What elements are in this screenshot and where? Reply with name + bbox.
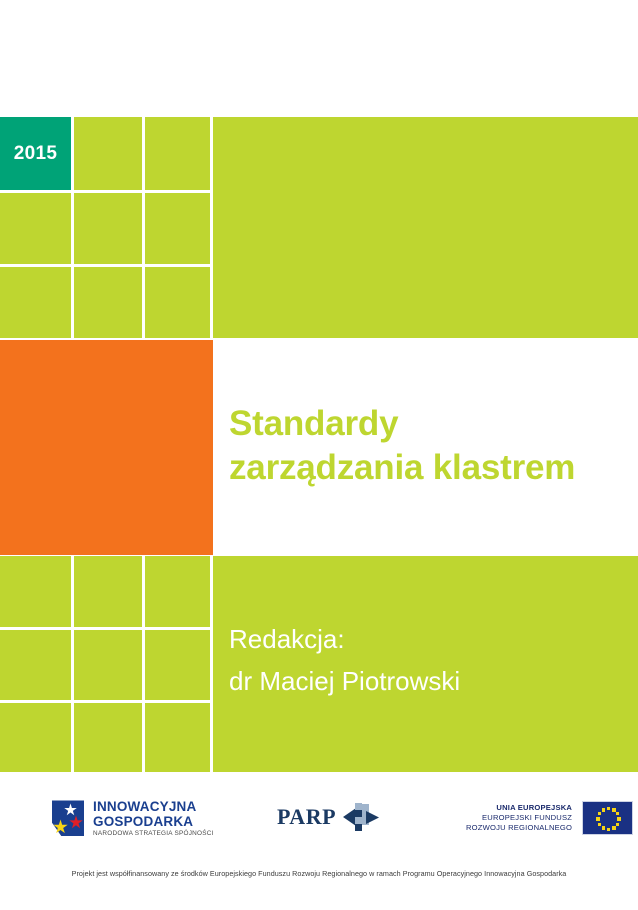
logo-strip: INNOWACYJNA GOSPODARKA NARODOWA STRATEGI…	[0, 772, 638, 862]
grid-divider-horizontal	[0, 700, 213, 703]
square-tile	[355, 803, 362, 810]
top-grid-tiles: 2015	[0, 117, 213, 338]
eu-star-icon	[616, 812, 619, 815]
top-green-band: 2015	[0, 117, 638, 338]
page-title-line2: zarządzania klastrem	[229, 446, 629, 490]
square-tile	[355, 824, 362, 831]
bottom-green-band: Redakcja: dr Maciej Piotrowski	[0, 556, 638, 772]
title-area: Standardy zarządzania klastrem	[213, 340, 638, 555]
grid-divider-vertical	[210, 556, 213, 772]
logo-ig-line1: INNOWACYJNA	[93, 800, 214, 814]
logo-ig-line2: GOSPODARKA	[93, 815, 214, 829]
grid-divider-vertical	[71, 117, 74, 338]
eu-star-icon	[596, 817, 599, 820]
square-tile	[355, 817, 362, 824]
grid-divider-horizontal	[0, 264, 213, 267]
logo-parp: PARP	[277, 803, 379, 831]
grid-divider-horizontal	[0, 627, 213, 630]
footer-funding-note: Projekt jest współfinansowany ze środków…	[0, 869, 638, 878]
grid-divider-vertical	[210, 117, 213, 338]
square-tile	[362, 804, 369, 811]
page-title-line1: Standardy	[229, 402, 629, 446]
logo-european-union: UNIA EUROPEJSKA EUROPEJSKI FUNDUSZ ROZWO…	[466, 801, 633, 835]
eu-star-icon	[598, 823, 601, 826]
eu-star-icon	[602, 826, 605, 829]
polish-flag-stars-icon	[52, 800, 84, 836]
parp-wordmark: PARP	[277, 804, 336, 830]
year-badge: 2015	[0, 117, 71, 190]
flag-shape	[52, 800, 84, 836]
orange-accent-block	[0, 340, 213, 555]
eu-star-icon	[607, 828, 610, 831]
eu-star-icon	[602, 808, 605, 811]
parp-diamond-arrow-icon	[343, 803, 379, 831]
eu-star-icon	[616, 823, 619, 826]
grid-divider-horizontal	[0, 190, 213, 193]
page-title: Standardy zarządzania klastrem	[229, 402, 629, 490]
editor-name: dr Maciej Piotrowski	[229, 660, 629, 702]
logo-innowacyjna-gospodarka: INNOWACYJNA GOSPODARKA NARODOWA STRATEGI…	[52, 800, 214, 837]
eu-star-icon	[617, 817, 620, 820]
logo-eu-line3: ROZWOJU REGIONALNEGO	[466, 823, 572, 833]
grid-divider-vertical	[142, 117, 145, 338]
logo-ig-text: INNOWACYJNA GOSPODARKA NARODOWA STRATEGI…	[93, 800, 214, 837]
eu-star-icon	[612, 826, 615, 829]
logo-eu-line2: EUROPEJSKI FUNDUSZ	[466, 813, 572, 823]
eu-star-icon	[598, 812, 601, 815]
logo-ig-line3: NARODOWA STRATEGIA SPÓJNOŚCI	[93, 831, 214, 837]
arrow-right-shape	[366, 811, 379, 824]
grid-divider-vertical	[71, 556, 74, 772]
grid-divider-vertical	[142, 556, 145, 772]
year-badge-label: 2015	[14, 143, 57, 165]
logo-eu-line1: UNIA EUROPEJSKA	[466, 803, 572, 813]
editor-credit: Redakcja: dr Maciej Piotrowski	[229, 618, 629, 702]
square-tile	[355, 810, 362, 817]
logo-eu-text: UNIA EUROPEJSKA EUROPEJSKI FUNDUSZ ROZWO…	[466, 803, 572, 834]
editor-label: Redakcja:	[229, 618, 629, 660]
eu-flag-icon	[582, 801, 633, 835]
bottom-grid-tiles	[0, 556, 213, 772]
eu-star-icon	[607, 807, 610, 810]
